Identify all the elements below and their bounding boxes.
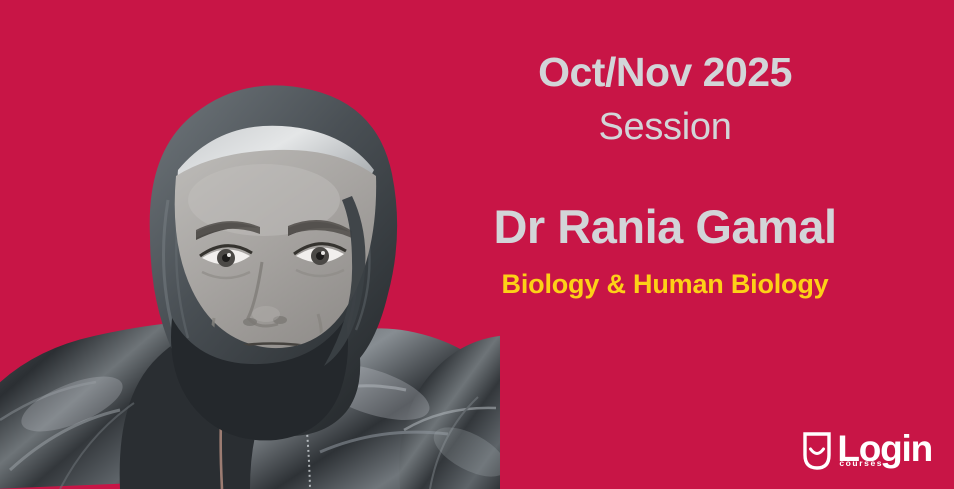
tutor-portrait bbox=[0, 0, 500, 489]
promo-banner: Oct/Nov 2025 Session Dr Rania Gamal Biol… bbox=[0, 0, 954, 489]
tutor-subjects: Biology & Human Biology bbox=[430, 271, 900, 298]
session-heading: Oct/Nov 2025 bbox=[430, 52, 900, 93]
login-courses-logo[interactable]: Login courses bbox=[802, 431, 932, 471]
shield-chevron-icon bbox=[802, 431, 832, 471]
tutor-name: Dr Rania Gamal bbox=[430, 203, 900, 250]
portrait-image bbox=[0, 0, 500, 489]
session-subheading: Session bbox=[430, 108, 900, 146]
text-content: Oct/Nov 2025 Session Dr Rania Gamal Biol… bbox=[430, 0, 900, 489]
logo-tagline: courses bbox=[839, 459, 883, 468]
